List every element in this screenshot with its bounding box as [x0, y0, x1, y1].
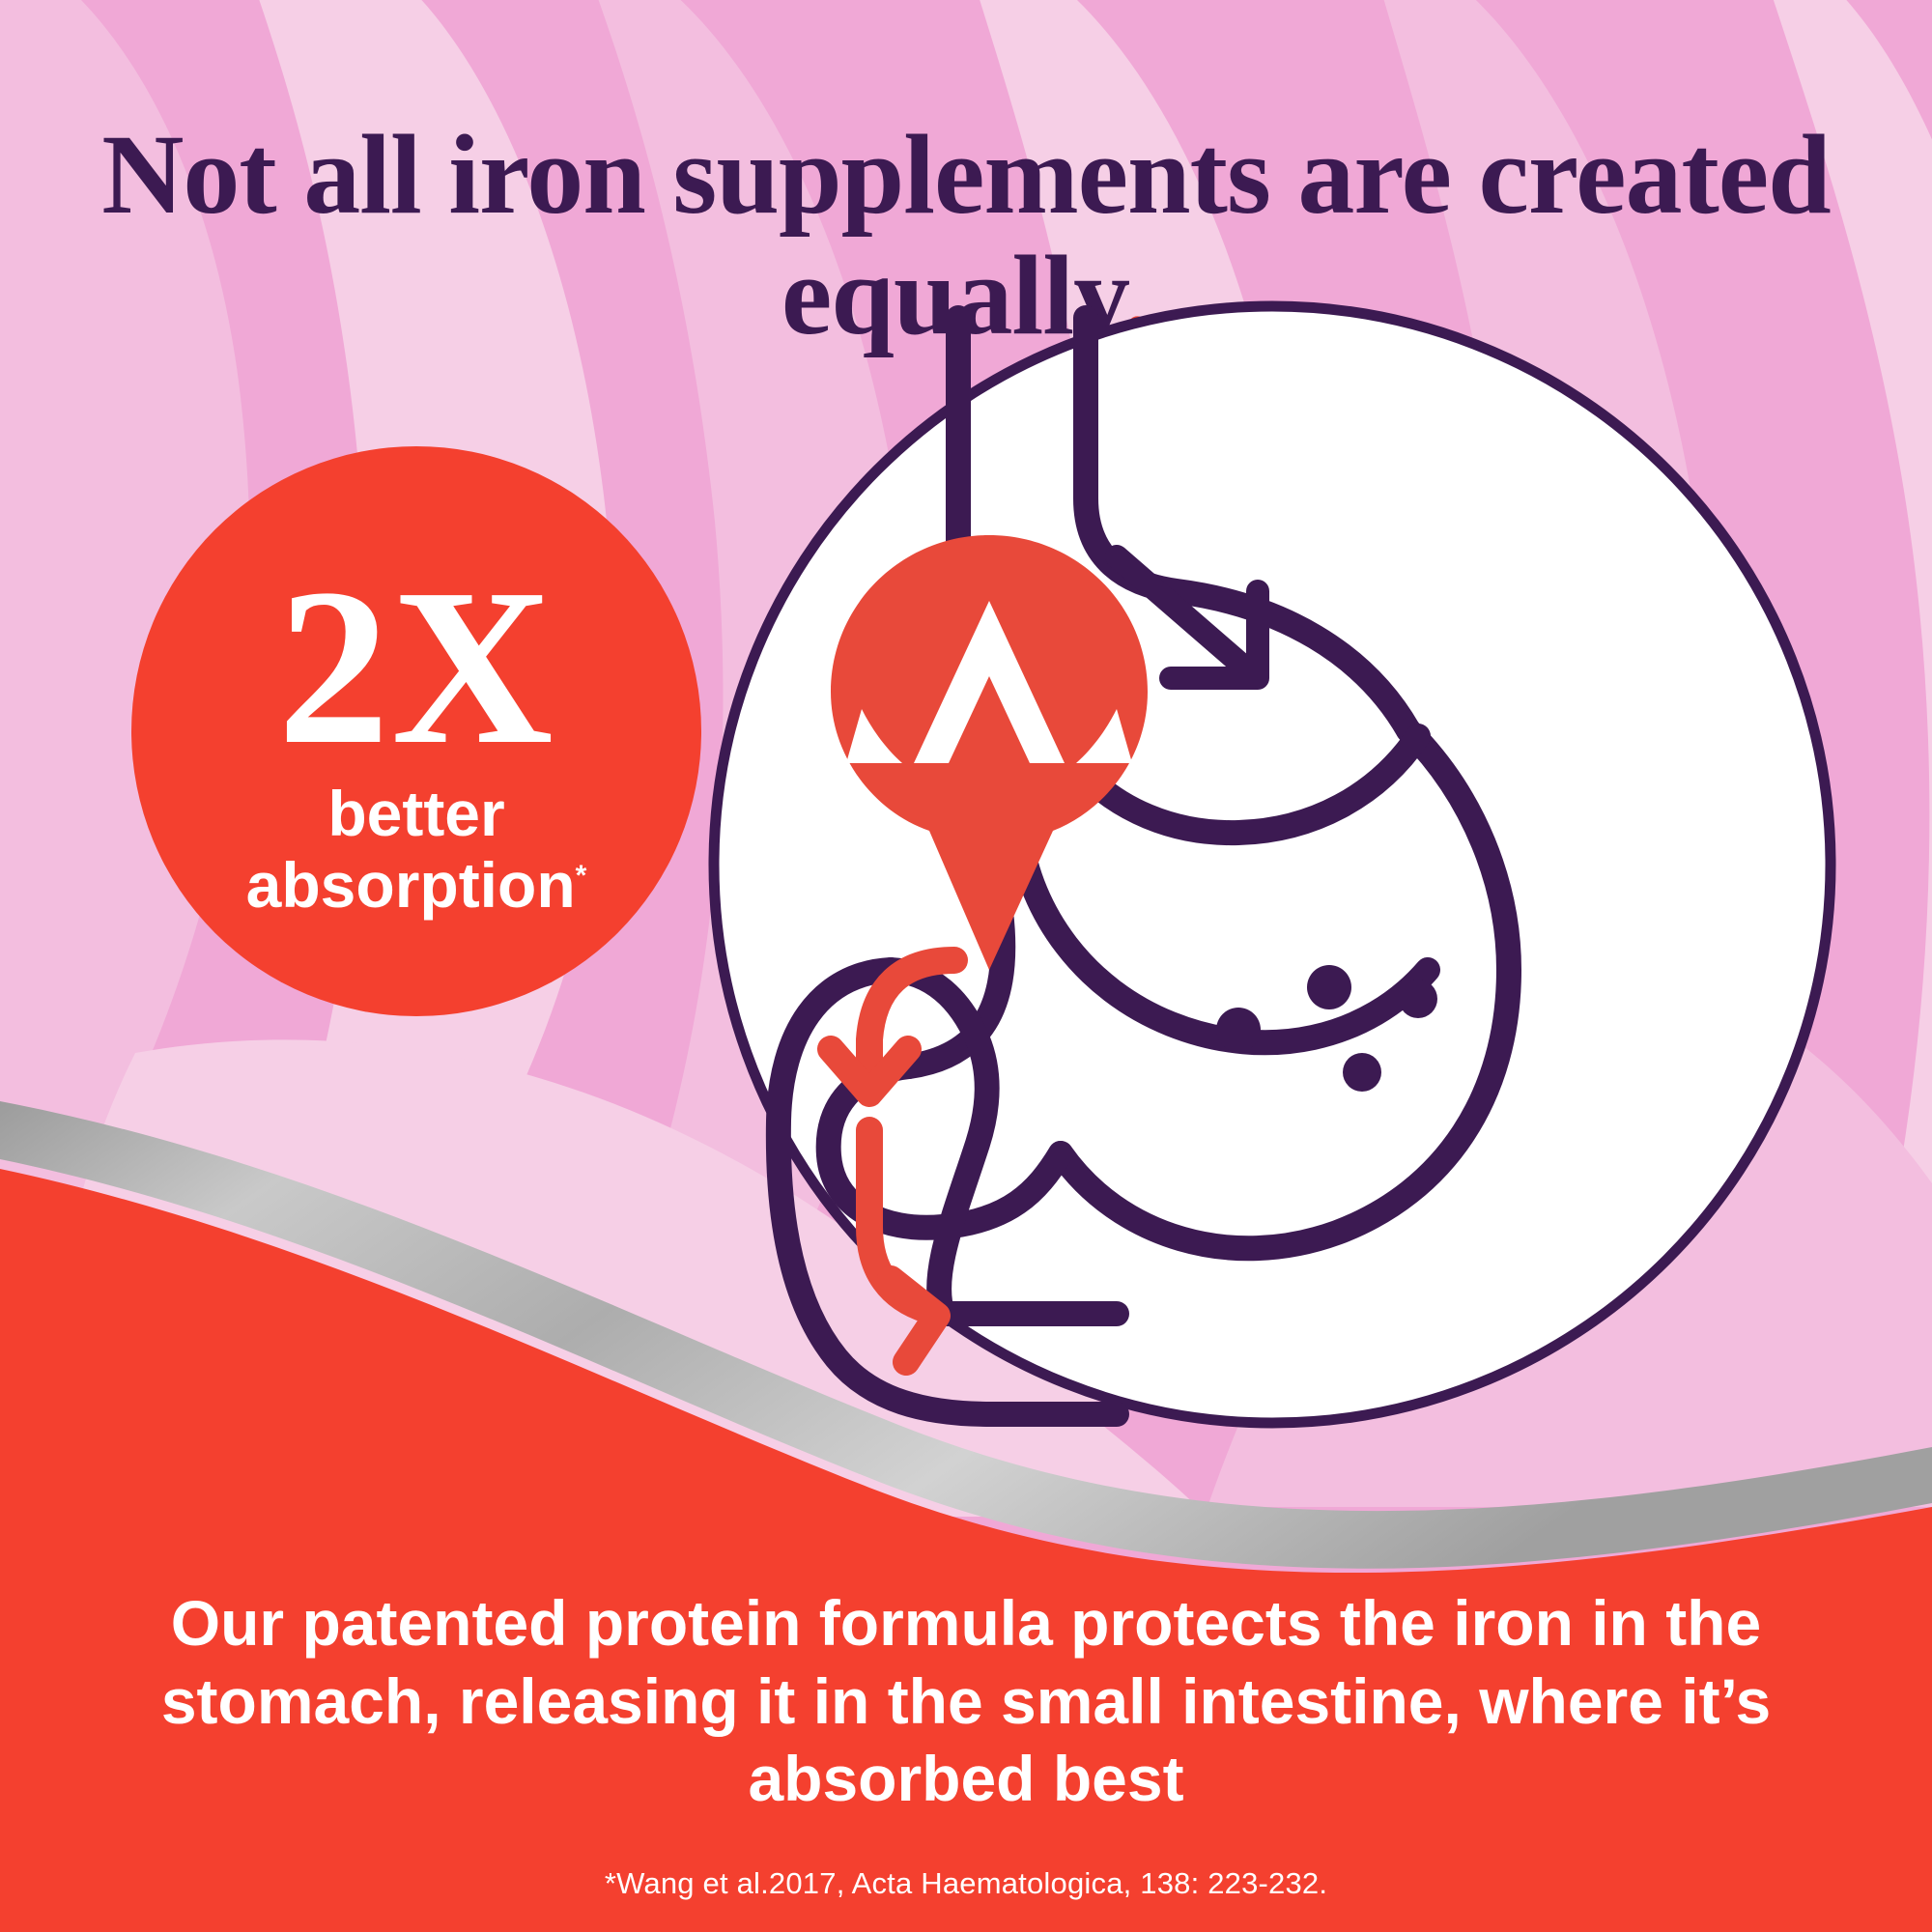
- body-line-1: Our patented protein formula protects th…: [171, 1587, 1761, 1659]
- badge-label: better absorption*: [246, 779, 587, 922]
- body-line-2: stomach, releasing it in the small intes…: [161, 1665, 1771, 1737]
- citation-footnote: *Wang et al.2017, Acta Haematologica, 13…: [0, 1866, 1932, 1901]
- absorption-badge: 2X better absorption*: [131, 446, 701, 1016]
- badge-label-line-1: better: [327, 778, 504, 849]
- badge-label-line-2: absorption: [246, 849, 576, 921]
- iron-dot: [1216, 1008, 1261, 1052]
- stomach-illustration-svg: [701, 294, 1843, 1435]
- badge-multiplier: 2X: [277, 564, 555, 770]
- body-copy: Our patented protein formula protects th…: [0, 1584, 1932, 1818]
- iron-dot: [1307, 965, 1351, 1009]
- body-line-3: absorbed best: [748, 1743, 1183, 1814]
- badge-asterisk: *: [576, 860, 587, 892]
- iron-dot: [1343, 1053, 1381, 1092]
- iron-dot: [1399, 980, 1437, 1018]
- headline-line-1: Not all iron supplements are created: [101, 111, 1831, 238]
- infographic-canvas: Not all iron supplements are created equ…: [0, 0, 1932, 1932]
- stomach-illustration: [701, 294, 1843, 1435]
